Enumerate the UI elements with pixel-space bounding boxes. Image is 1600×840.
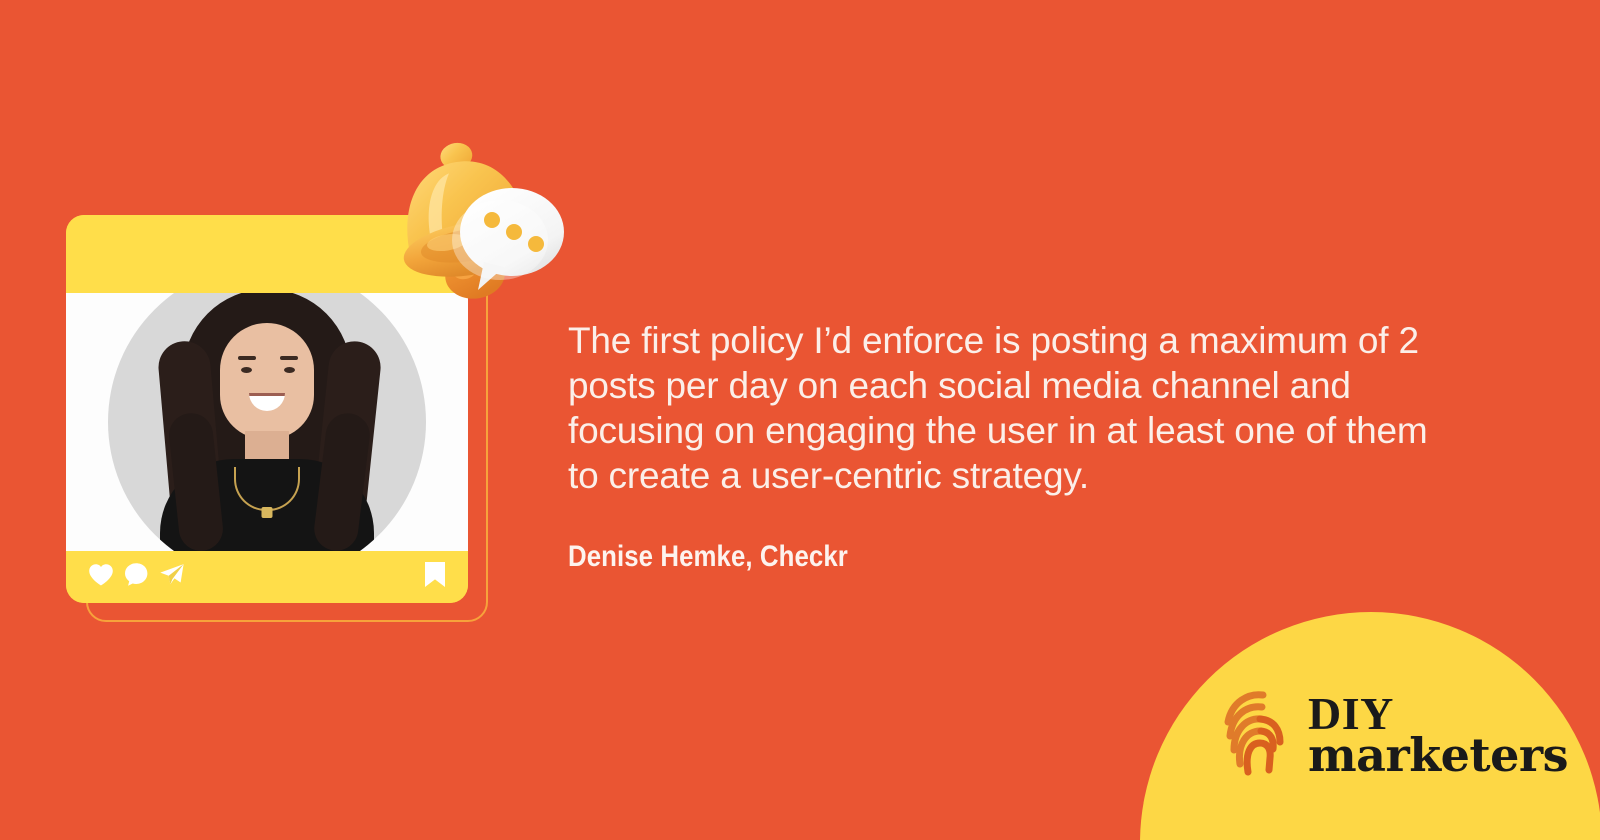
portrait-necklace-pendant (262, 507, 273, 518)
like-icon[interactable] (88, 563, 114, 592)
portrait-brow-left (238, 356, 256, 360)
comment-icon[interactable] (124, 562, 149, 592)
portrait-image (108, 293, 426, 551)
brand-logo-badge: DIY marketers (1140, 612, 1600, 840)
portrait-eye-right (284, 367, 295, 373)
brand-logo-line2: marketers (1308, 736, 1568, 776)
fingerprint-icon (1218, 686, 1296, 783)
share-icon[interactable] (159, 563, 185, 592)
card-photo-panel (66, 293, 468, 551)
portrait-eye-left (241, 367, 252, 373)
portrait-face (220, 323, 314, 439)
quote-graphic-canvas: The first policy I’d enforce is posting … (0, 0, 1600, 840)
portrait-brow-right (280, 356, 298, 360)
notification-bell-icon (352, 140, 582, 315)
quote-text: The first policy I’d enforce is posting … (568, 318, 1438, 498)
brand-logo: DIY marketers (1218, 686, 1568, 783)
quote-block: The first policy I’d enforce is posting … (568, 318, 1438, 574)
quote-attribution: Denise Hemke, Checkr (568, 540, 1316, 574)
portrait-circle (108, 293, 426, 551)
bookmark-icon[interactable] (424, 561, 446, 593)
card-action-group (88, 562, 185, 592)
card-action-bar (66, 551, 468, 603)
brand-logo-text: DIY marketers (1308, 694, 1568, 775)
